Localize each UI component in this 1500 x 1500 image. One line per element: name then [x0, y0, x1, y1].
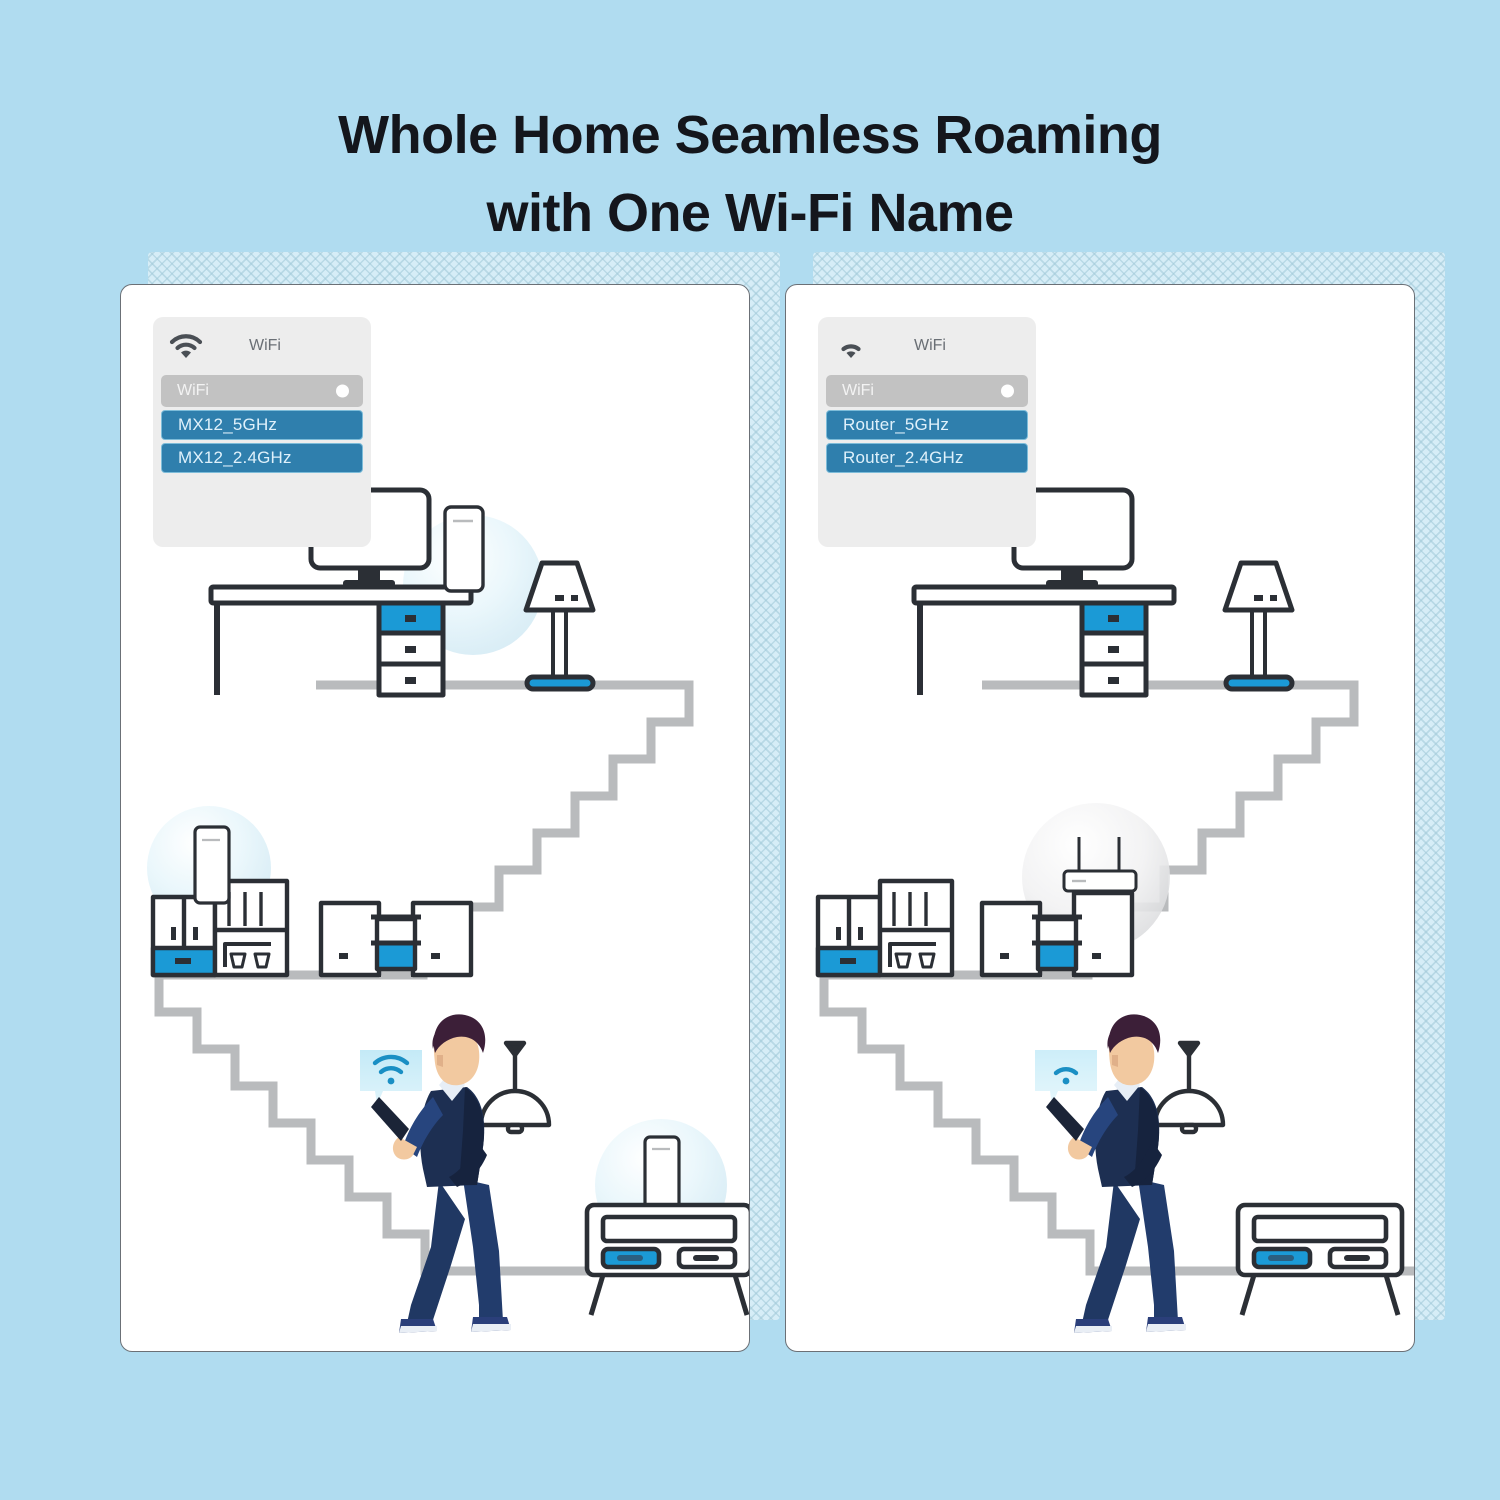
wifi-popup-header: WiFi [153, 317, 371, 375]
wifi-toggle[interactable]: WiFi [161, 375, 363, 407]
page-title: Whole Home Seamless Roaming with One Wi-… [0, 96, 1500, 252]
phone-wifi-badge [1035, 1050, 1097, 1105]
wifi-toggle[interactable]: WiFi [826, 375, 1028, 407]
mesh-node-lower [645, 1137, 679, 1211]
poster-canvas: Whole Home Seamless Roaming with One Wi-… [0, 0, 1500, 1500]
wifi-popup-header: WiFi [818, 317, 1036, 375]
shelf-unit-middle [321, 903, 471, 977]
title-line-1: Whole Home Seamless Roaming [0, 96, 1500, 174]
wifi-toggle-knob[interactable] [336, 385, 349, 398]
mesh-panel: WiFi WiFi MX12_5GHz MX12_2.4GHz [120, 252, 780, 1352]
router-panel-card: WiFi WiFi Router_5GHz Router_2.4GHz [785, 284, 1415, 1352]
mesh-panel-card: WiFi WiFi MX12_5GHz MX12_2.4GHz [120, 284, 750, 1352]
pendant-lamp-lower [481, 1043, 549, 1132]
mesh-node-middle [195, 827, 229, 903]
router-panel: WiFi WiFi Router_5GHz Router_2.4GHz [785, 252, 1445, 1352]
network-ssid-label: MX12_2.4GHz [178, 448, 292, 468]
pendant-lamp-lower [1155, 1043, 1223, 1132]
wifi-toggle-label: WiFi [177, 382, 209, 400]
kitchen-counter-middle [880, 881, 952, 975]
tv-console-lower [1238, 1205, 1402, 1315]
wifi-toggle-label: WiFi [842, 382, 874, 400]
kitchen-cabinet-middle [818, 897, 880, 975]
network-ssid-label: MX12_5GHz [178, 415, 277, 435]
floor-lamp-upper [526, 563, 593, 689]
walking-man [360, 1014, 511, 1333]
network-ssid-label: Router_5GHz [843, 415, 949, 435]
wifi-network-popup[interactable]: WiFi WiFi MX12_5GHz MX12_2.4GHz [153, 317, 371, 547]
walking-man [1035, 1014, 1186, 1333]
kitchen-cabinet-middle [153, 897, 215, 975]
wifi-popup-title: WiFi [153, 337, 371, 355]
network-item-24ghz[interactable]: MX12_2.4GHz [161, 443, 363, 473]
network-item-5ghz[interactable]: Router_5GHz [826, 410, 1028, 440]
title-line-2: with One Wi-Fi Name [0, 174, 1500, 252]
network-ssid-label: Router_2.4GHz [843, 448, 964, 468]
network-item-24ghz[interactable]: Router_2.4GHz [826, 443, 1028, 473]
wifi-popup-title: WiFi [818, 337, 1036, 355]
mesh-node-upper [445, 507, 483, 591]
floor-lamp-upper [1225, 563, 1292, 689]
network-item-5ghz[interactable]: MX12_5GHz [161, 410, 363, 440]
wifi-network-popup[interactable]: WiFi WiFi Router_5GHz Router_2.4GHz [818, 317, 1036, 547]
phone-wifi-badge [360, 1050, 422, 1105]
tv-console-lower [587, 1205, 750, 1315]
wifi-toggle-knob[interactable] [1001, 385, 1014, 398]
